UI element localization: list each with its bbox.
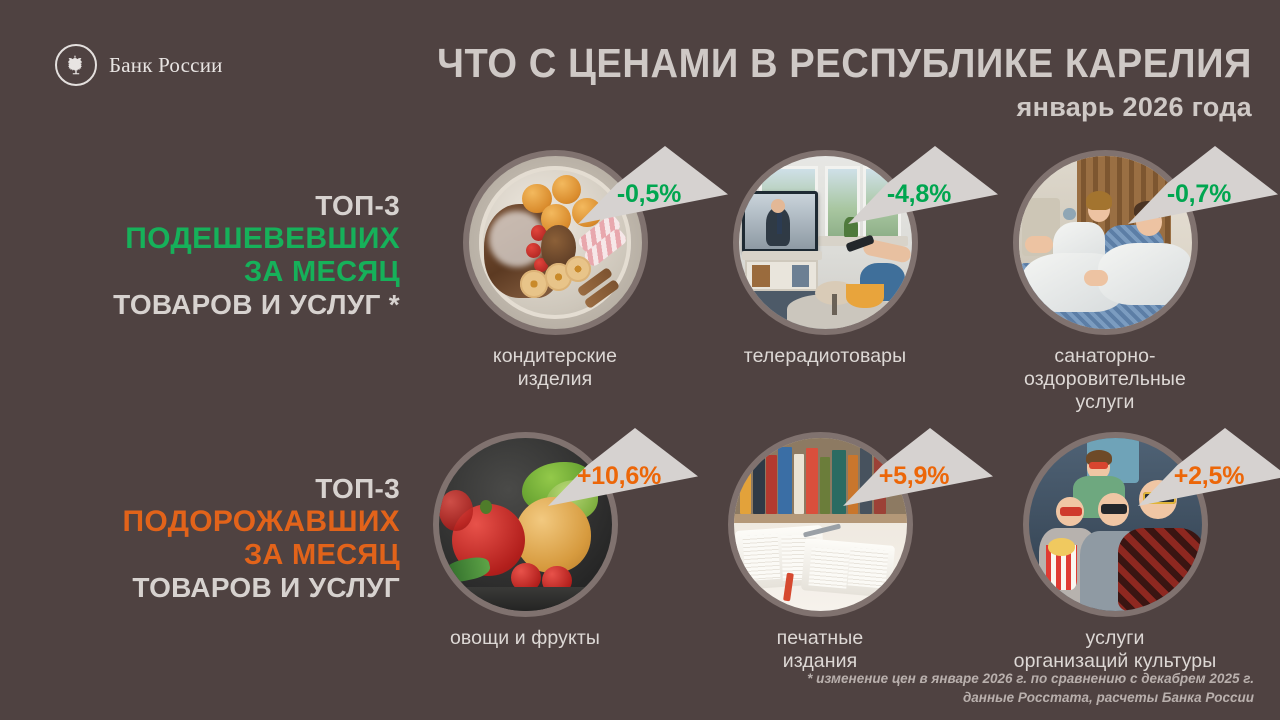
change-value: +10,6%: [548, 462, 690, 491]
footnote-line-methodology: * изменение цен в январе 2026 г. по срав…: [807, 669, 1254, 689]
caption-line: печатные: [705, 627, 935, 650]
caption-line: услуги: [1000, 627, 1230, 650]
caption-line: услуги: [990, 391, 1220, 414]
item-card-sanatorium-services[interactable]: -0,7% санаторно- оздоровительные услуги: [990, 150, 1220, 414]
item-card-tv-radio-goods[interactable]: -4,8% телерадиотовары: [710, 150, 940, 368]
item-caption-culture-services: услуги организаций культуры: [1000, 627, 1230, 673]
label-line-period: ЗА МЕСЯЦ: [0, 256, 400, 289]
label-line-direction: ПОДОРОЖАВШИХ: [0, 505, 400, 539]
section-label-cheaper: ТОП-3 ПОДЕШЕВЕВШИХ ЗА МЕСЯЦ ТОВАРОВ И УС…: [0, 190, 400, 321]
label-line-top3: ТОП-3: [0, 473, 400, 505]
change-badge-sanatorium-services: -0,7%: [1128, 146, 1278, 224]
change-badge-tv-radio-goods: -4,8%: [848, 146, 998, 224]
label-line-goods: ТОВАРОВ И УСЛУГ: [0, 572, 400, 604]
footnote-line-source: данные Росстата, расчеты Банка России: [807, 688, 1254, 708]
item-card-printed-editions[interactable]: +5,9% печатные издания: [705, 432, 935, 673]
item-card-culture-services[interactable]: +2,5% услуги организаций культуры: [1000, 432, 1230, 673]
page-title: ЧТО С ЦЕНАМИ В РЕСПУБЛИКЕ КАРЕЛИЯ: [88, 40, 1252, 87]
change-badge-vegetables-fruits: +10,6%: [548, 428, 698, 506]
item-caption-printed-editions: печатные издания: [705, 627, 935, 673]
page-subtitle: январь 2026 года: [1017, 92, 1252, 123]
item-card-confectionery[interactable]: -0,5% кондитерские изделия: [440, 150, 670, 391]
change-badge-confectionery: -0,5%: [578, 146, 728, 224]
item-card-vegetables-fruits[interactable]: +10,6% овощи и фрукты: [410, 432, 640, 650]
caption-line: кондитерские: [440, 345, 670, 368]
label-line-direction: ПОДЕШЕВЕВШИХ: [0, 222, 400, 256]
caption-line: изделия: [440, 368, 670, 391]
change-value: -0,7%: [1128, 180, 1270, 209]
change-value: -0,5%: [578, 180, 720, 209]
label-line-goods: ТОВАРОВ И УСЛУГ *: [0, 289, 400, 321]
item-caption-sanatorium-services: санаторно- оздоровительные услуги: [990, 345, 1220, 414]
change-badge-culture-services: +2,5%: [1138, 428, 1280, 506]
caption-line: овощи и фрукты: [410, 627, 640, 650]
footnote: * изменение цен в январе 2026 г. по срав…: [807, 669, 1254, 708]
section-label-dearer: ТОП-3 ПОДОРОЖАВШИХ ЗА МЕСЯЦ ТОВАРОВ И УС…: [0, 473, 400, 604]
label-line-period: ЗА МЕСЯЦ: [0, 539, 400, 572]
change-badge-printed-editions: +5,9%: [843, 428, 993, 506]
caption-line: оздоровительные: [990, 368, 1220, 391]
item-caption-vegetables-fruits: овощи и фрукты: [410, 627, 640, 650]
change-value: -4,8%: [848, 180, 990, 209]
caption-line: телерадиотовары: [710, 345, 940, 368]
item-caption-confectionery: кондитерские изделия: [440, 345, 670, 391]
item-caption-tv-radio-goods: телерадиотовары: [710, 345, 940, 368]
caption-line: санаторно-: [990, 345, 1220, 368]
change-value: +5,9%: [843, 462, 985, 491]
page-header: Банк России ЧТО С ЦЕНАМИ В РЕСПУБЛИКЕ КА…: [0, 0, 1280, 135]
label-line-top3: ТОП-3: [0, 190, 400, 222]
change-value: +2,5%: [1138, 462, 1280, 491]
